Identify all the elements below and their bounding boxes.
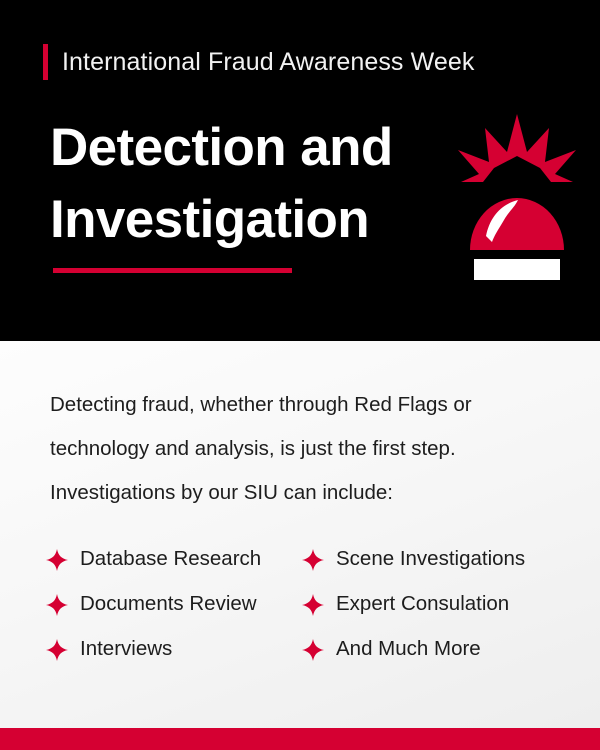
list-item-label: And Much More	[336, 639, 481, 660]
intro-paragraph-line-3: Investigations by our SIU can include:	[50, 471, 550, 515]
capability-list-column-right: Scene Investigations Expert Consulation	[302, 537, 552, 672]
list-item: And Much More	[302, 627, 552, 672]
page-title-line-2: Investigation	[50, 184, 470, 256]
list-item: Expert Consulation	[302, 582, 552, 627]
list-item-label: Interviews	[80, 639, 172, 660]
list-item: Interviews	[46, 627, 302, 672]
capability-list: Database Research Documents Review	[46, 537, 566, 672]
sparkle-icon	[302, 594, 324, 616]
eyebrow-accent-bar	[43, 44, 48, 80]
header-banner: International Fraud Awareness Week Detec…	[0, 0, 600, 341]
sparkle-icon	[46, 639, 68, 661]
list-item-label: Database Research	[80, 549, 261, 570]
list-item: Scene Investigations	[302, 537, 552, 582]
capability-list-column-left: Database Research Documents Review	[46, 537, 302, 672]
list-item: Documents Review	[46, 582, 302, 627]
page-title-line-1: Detection and	[50, 112, 470, 184]
intro-paragraph-line-2: technology and analysis, is just the fir…	[50, 427, 550, 471]
list-item-label: Scene Investigations	[336, 549, 525, 570]
sparkle-icon	[46, 549, 68, 571]
fraud-awareness-card: International Fraud Awareness Week Detec…	[0, 0, 600, 750]
footer-accent-bar	[0, 728, 600, 750]
intro-paragraph: Detecting fraud, whether through Red Fla…	[50, 383, 550, 515]
list-item-label: Documents Review	[80, 594, 257, 615]
body-section: Detecting fraud, whether through Red Fla…	[0, 341, 600, 728]
sparkle-icon	[302, 549, 324, 571]
page-title: Detection and Investigation	[50, 112, 470, 256]
intro-paragraph-line-1: Detecting fraud, whether through Red Fla…	[50, 383, 550, 427]
eyebrow: International Fraud Awareness Week	[43, 44, 474, 80]
list-item: Database Research	[46, 537, 302, 582]
sparkle-icon	[46, 594, 68, 616]
title-underline-rule	[53, 268, 292, 273]
siren-icon	[452, 112, 582, 282]
list-item-label: Expert Consulation	[336, 594, 509, 615]
sparkle-icon	[302, 639, 324, 661]
eyebrow-label: International Fraud Awareness Week	[62, 50, 474, 75]
